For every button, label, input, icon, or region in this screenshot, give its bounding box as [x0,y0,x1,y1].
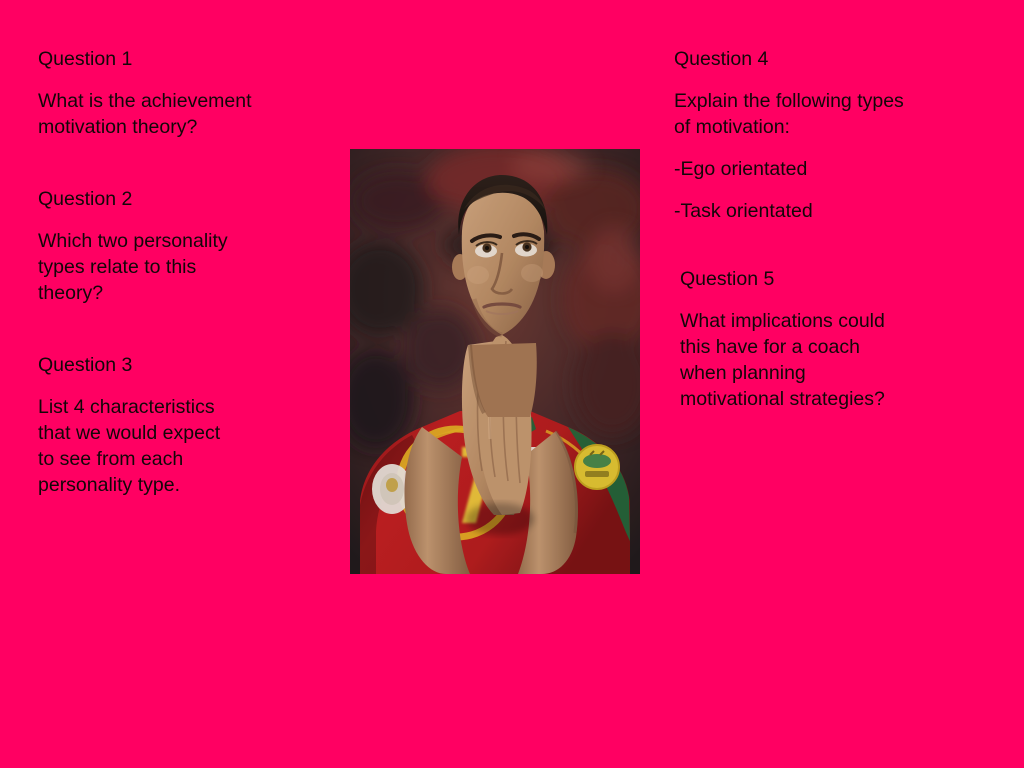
slide-canvas: Question 1 What is the achievement motiv… [0,0,1024,768]
question-5-line-2: this have for a coach [680,334,994,360]
question-5-line-4: motivational strategies? [680,386,994,412]
question-2-block: Question 2 Which two personality types r… [38,186,338,306]
photo-tone-overlay [350,149,640,574]
question-4-bullet-1: -Ego orientated [674,156,994,182]
question-3-line-1: List 4 characteristics [38,394,338,420]
question-5-heading: Question 5 [680,266,994,292]
question-2-line-3: theory? [38,280,338,306]
question-1-line-1: What is the achievement [38,88,338,114]
question-1-block: Question 1 What is the achievement motiv… [38,46,338,140]
footballer-praying-photo [350,149,640,574]
question-2-line-1: Which two personality [38,228,338,254]
question-5-line-3: when planning [680,360,994,386]
question-3-line-4: personality type. [38,472,338,498]
question-2-body: Which two personality types relate to th… [38,228,338,306]
spacer-3 [674,224,994,266]
question-2-heading: Question 2 [38,186,338,212]
question-1-body: What is the achievement motivation theor… [38,88,338,140]
question-5-block: Question 5 What implications could this … [680,266,994,412]
right-question-column: Question 4 Explain the following types o… [674,46,994,412]
question-4-bullet-2: -Task orientated [674,198,994,224]
question-5-line-1: What implications could [680,308,994,334]
question-2-line-2: types relate to this [38,254,338,280]
question-1-line-2: motivation theory? [38,114,338,140]
question-4-heading: Question 4 [674,46,994,72]
question-3-body: List 4 characteristics that we would exp… [38,394,338,498]
question-1-heading: Question 1 [38,46,338,72]
question-4-block: Question 4 Explain the following types o… [674,46,994,224]
question-3-block: Question 3 List 4 characteristics that w… [38,352,338,498]
question-3-line-2: that we would expect [38,420,338,446]
spacer-1 [38,140,338,186]
left-question-column: Question 1 What is the achievement motiv… [38,46,338,498]
spacer-2 [38,306,338,352]
question-3-heading: Question 3 [38,352,338,378]
question-4-line-1: Explain the following types [674,88,994,114]
question-4-body: Explain the following types of motivatio… [674,88,994,140]
question-4-line-2: of motivation: [674,114,994,140]
question-3-line-3: to see from each [38,446,338,472]
photo-illustration [350,149,640,574]
question-5-body: What implications could this have for a … [680,308,994,412]
